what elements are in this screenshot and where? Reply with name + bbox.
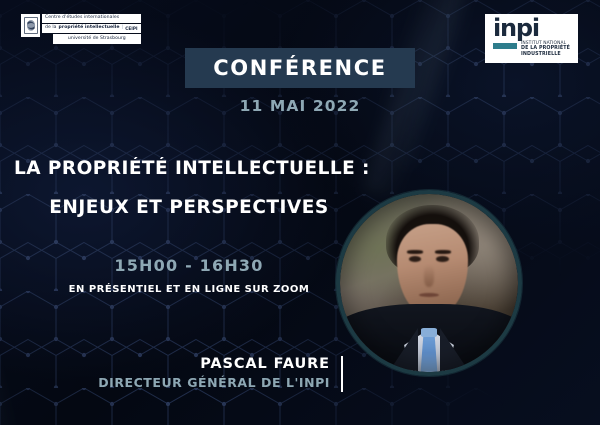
ceipi-seal-icon	[21, 14, 40, 37]
conference-poster: Centre d'études internationales de la pr…	[0, 0, 600, 425]
ceipi-line-2: de la propriété intellectuelle | CEIPI	[42, 24, 141, 33]
event-title-line-2: ENJEUX ET PERSPECTIVES	[14, 199, 364, 218]
speaker-portrait	[336, 190, 522, 376]
light-streak	[0, 251, 26, 425]
inpi-logo: inpi INSTITUT NATIONAL DE LA PROPRIÉTÉ I…	[485, 14, 578, 63]
inpi-accent-bar	[493, 43, 517, 49]
event-title: LA PROPRIÉTÉ INTELLECTUELLE : ENJEUX ET …	[14, 160, 364, 217]
inpi-wordmark: inpi	[493, 19, 570, 39]
event-mode: EN PRÉSENTIEL ET EN LIGNE SUR ZOOM	[14, 284, 364, 295]
ceipi-separator: |	[122, 26, 124, 31]
speaker-divider-rule	[341, 356, 343, 392]
speaker-name: PASCAL FAURE	[0, 356, 330, 372]
conference-banner-label: CONFÉRENCE	[213, 56, 386, 80]
event-date: 11 MAI 2022	[0, 97, 600, 115]
ceipi-line-1: Centre d'études internationales	[42, 14, 141, 23]
event-time: 15H00 - 16H30	[14, 256, 364, 275]
ceipi-line-2-bold: propriété intellectuelle	[59, 26, 120, 31]
conference-banner: CONFÉRENCE	[185, 48, 415, 88]
ceipi-acronym: CEIPI	[125, 27, 137, 31]
ceipi-logo-text: Centre d'études internationales de la pr…	[42, 14, 141, 44]
ceipi-line-2-prefix: de la	[45, 26, 57, 31]
ceipi-logo: Centre d'études internationales de la pr…	[21, 14, 141, 44]
portrait-vignette	[340, 194, 518, 372]
speaker-role: DIRECTEUR GÉNÉRAL DE L'INPI	[0, 375, 330, 390]
speaker-block: PASCAL FAURE DIRECTEUR GÉNÉRAL DE L'INPI	[0, 356, 340, 390]
portrait-photo	[340, 194, 518, 372]
inpi-subtitle-line-3: INDUSTRIELLE	[521, 52, 570, 58]
ceipi-line-3: université de Strasbourg	[53, 34, 141, 43]
event-title-line-1: LA PROPRIÉTÉ INTELLECTUELLE :	[14, 160, 364, 179]
inpi-logo-bottom: INSTITUT NATIONAL DE LA PROPRIÉTÉ INDUST…	[493, 41, 570, 58]
inpi-subtitle: INSTITUT NATIONAL DE LA PROPRIÉTÉ INDUST…	[521, 41, 570, 58]
